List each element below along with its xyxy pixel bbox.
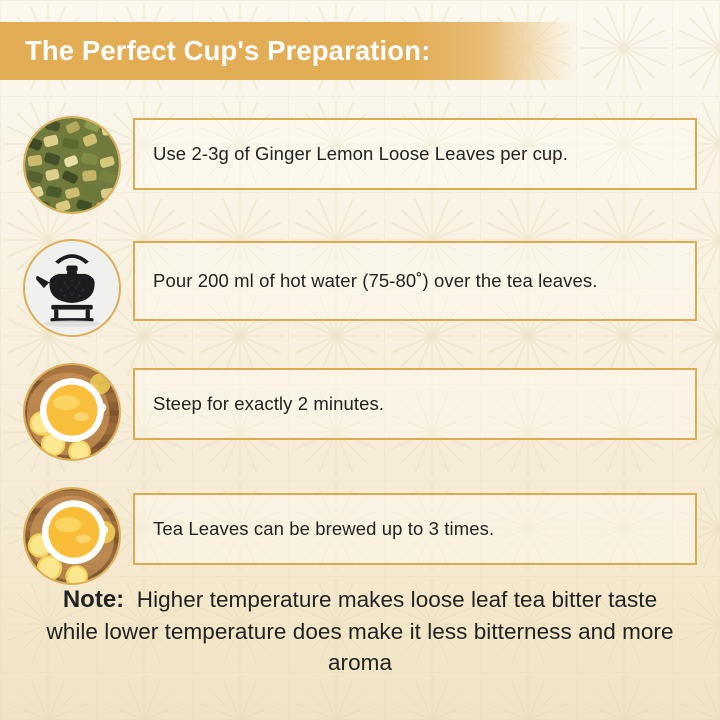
note-block: Note: Higher temperature makes loose lea… (0, 584, 720, 679)
step-text: Steep for exactly 2 minutes. (135, 392, 400, 416)
loose-tea-leaves-photo (23, 116, 121, 214)
brewed-tea-cup-photo (23, 363, 121, 461)
preparation-infographic: The Perfect Cup's Preparation: (0, 0, 720, 720)
header-banner: The Perfect Cup's Preparation: (0, 22, 578, 80)
steps-list: Use 2-3g of Ginger Lemon Loose Leaves pe… (0, 112, 720, 612)
step-text-box: Pour 200 ml of hot water (75-80˚) over t… (133, 241, 697, 321)
step-row: Use 2-3g of Ginger Lemon Loose Leaves pe… (0, 112, 720, 237)
step-text-box: Use 2-3g of Ginger Lemon Loose Leaves pe… (133, 118, 697, 190)
brewed-tea-cup-photo-2 (23, 487, 121, 585)
step-text: Tea Leaves can be brewed up to 3 times. (135, 517, 510, 541)
step-row: Steep for exactly 2 minutes. (0, 362, 720, 487)
step-row: Pour 200 ml of hot water (75-80˚) over t… (0, 237, 720, 362)
step-text: Pour 200 ml of hot water (75-80˚) over t… (135, 269, 614, 293)
note-label: Note: (63, 586, 124, 613)
step-text-box: Steep for exactly 2 minutes. (133, 368, 697, 440)
note-body: Higher temperature makes loose leaf tea … (46, 587, 673, 675)
page-title: The Perfect Cup's Preparation: (0, 35, 430, 67)
step-text: Use 2-3g of Ginger Lemon Loose Leaves pe… (135, 142, 584, 166)
cast-iron-teapot-photo (23, 239, 121, 337)
step-text-box: Tea Leaves can be brewed up to 3 times. (133, 493, 697, 565)
